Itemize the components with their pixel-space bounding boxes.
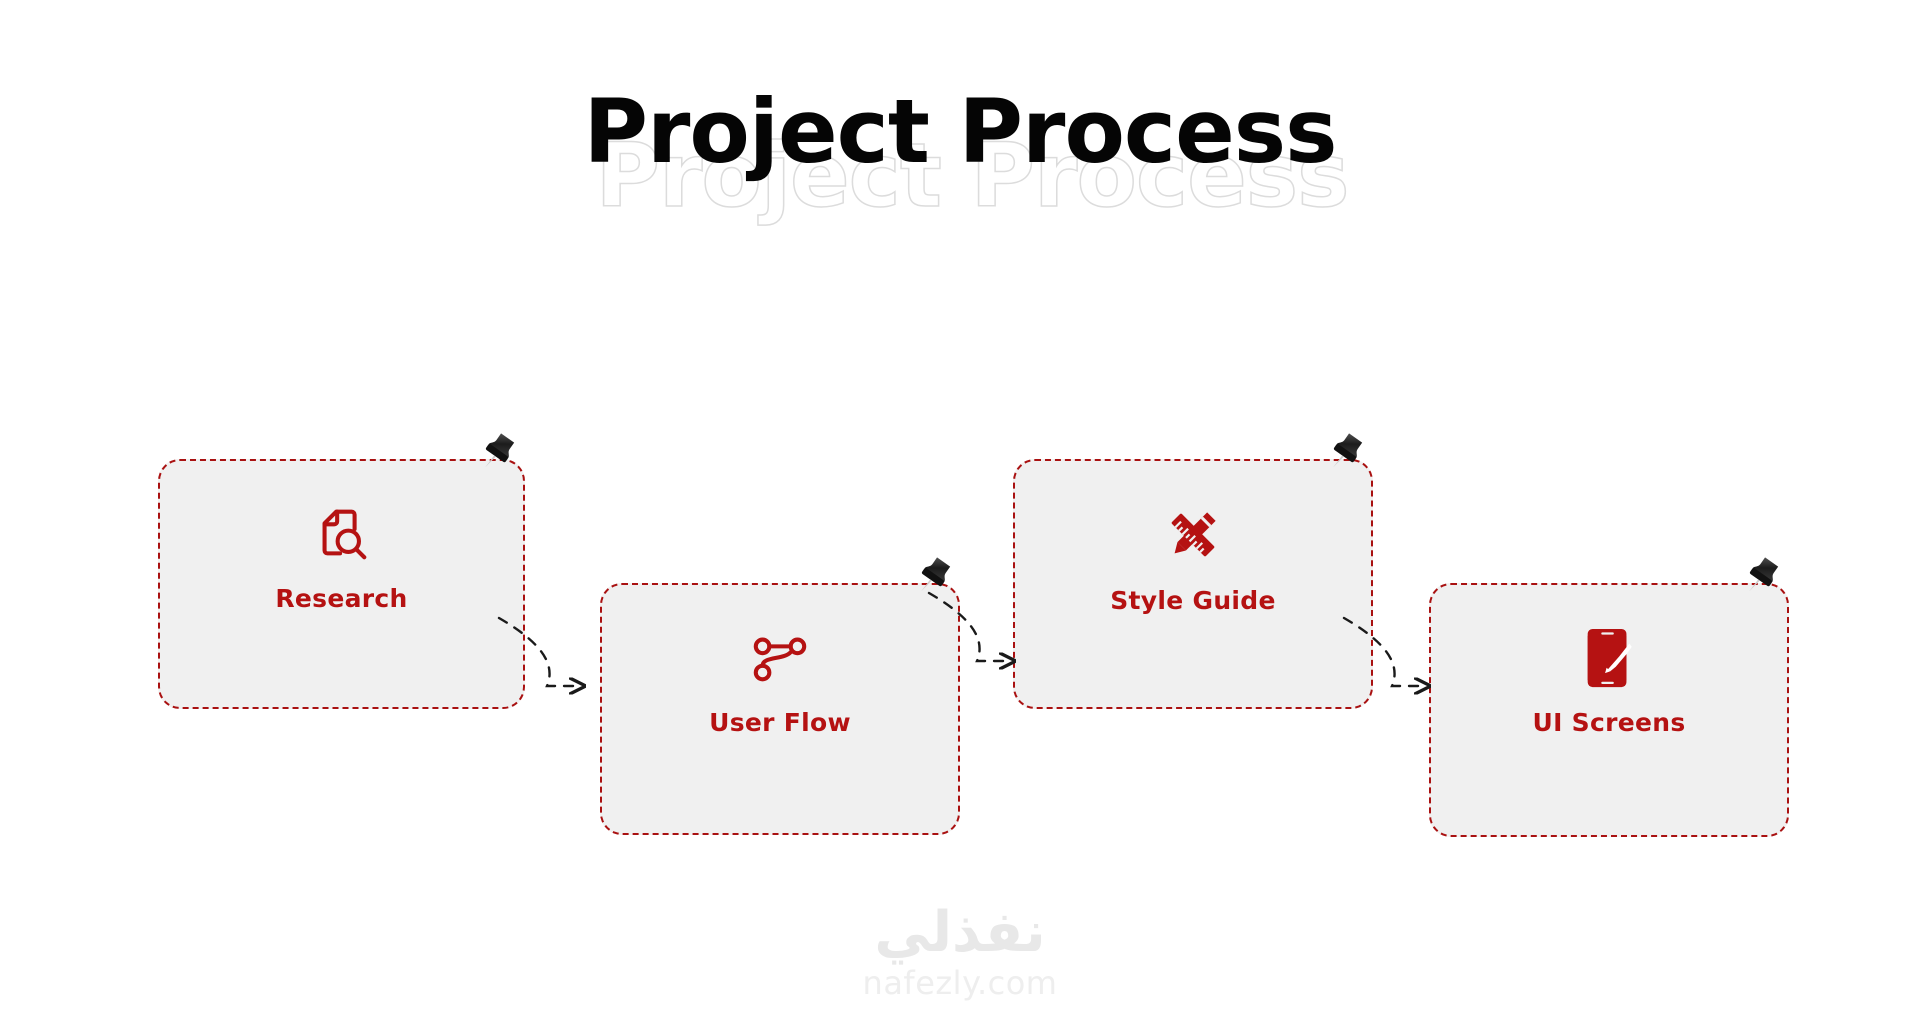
- step-label-research: Research: [275, 584, 407, 613]
- document-search-icon: [311, 503, 373, 570]
- step-label-style-guide: Style Guide: [1110, 586, 1276, 615]
- page-title: Project Process: [0, 88, 1920, 176]
- step-label-user-flow: User Flow: [709, 708, 851, 737]
- node-graph-icon: [749, 627, 811, 694]
- step-label-ui-screens: UI Screens: [1532, 708, 1685, 737]
- watermark-latin: nafezly.com: [0, 967, 1920, 999]
- step-card-research[interactable]: Research: [158, 459, 525, 709]
- step-card-user-flow[interactable]: User Flow: [600, 583, 960, 835]
- page-title-group: Project Process Project Process: [0, 72, 1920, 242]
- page-title-outline: Project Process: [12, 132, 1920, 220]
- step-card-ui-screens[interactable]: UI Screens: [1429, 583, 1789, 837]
- watermark-arabic: نفذلي: [0, 905, 1920, 961]
- watermark: نفذلي nafezly.com: [0, 905, 1920, 999]
- step-card-style-guide[interactable]: Style Guide: [1013, 459, 1373, 709]
- mobile-pen-icon: [1580, 627, 1638, 694]
- pencil-ruler-cross-icon: [1161, 503, 1225, 572]
